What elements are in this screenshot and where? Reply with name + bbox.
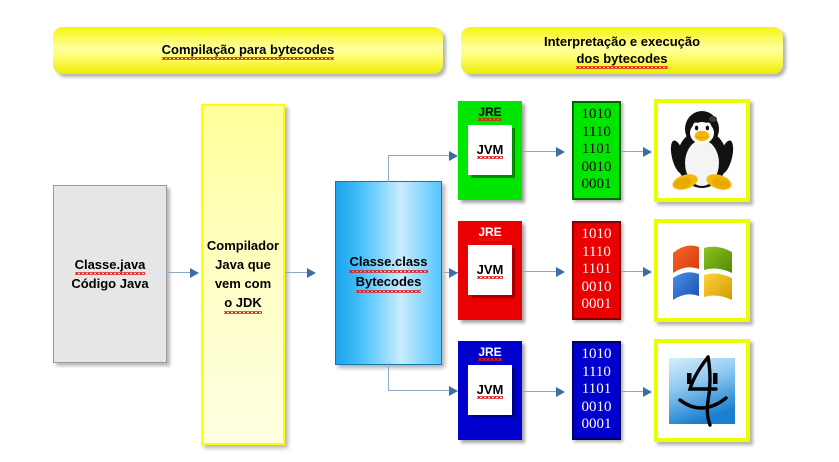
byte-line: 0010	[574, 399, 619, 417]
bytecode-stream-macos: 1010 1110 1101 0010 0001	[572, 341, 621, 440]
compiler-box: Compilador Java que vem com o JDK	[201, 104, 285, 445]
header-execution-line2: dos bytecodes	[576, 50, 667, 69]
tux-penguin-icon	[663, 109, 741, 193]
jre-label-linux: JRE	[478, 105, 501, 121]
jvm-label-windows: JVM	[477, 262, 504, 279]
os-tile-macos	[654, 339, 750, 442]
branch-line-down-vertical	[388, 363, 389, 391]
branch-line-up-horizontal	[388, 155, 451, 156]
byte-line: 1101	[574, 261, 619, 279]
byte-line: 1101	[574, 381, 619, 399]
windows-flag-icon	[664, 233, 740, 309]
arrowhead-to-mac-jre	[449, 386, 458, 396]
bytecode-file-desc: Bytecodes	[356, 273, 422, 293]
branch-line-up-vertical	[388, 155, 389, 182]
diagram-canvas: Compilação e execução Compilação para by…	[0, 0, 839, 462]
arrowhead-to-linux-jre	[449, 151, 458, 161]
jre-label-windows: JRE	[478, 225, 501, 241]
arrowhead-source-to-compiler	[190, 268, 199, 278]
connector-macos-jvm-to-bytes	[522, 391, 556, 392]
byte-line: 0001	[574, 416, 619, 434]
source-file-desc: Código Java	[71, 275, 148, 292]
arrowhead-linux-bytes-to-os	[643, 147, 652, 157]
jvm-box-windows: JVM	[468, 245, 512, 295]
byte-line: 0010	[574, 279, 619, 297]
source-file-name: Classe.java	[75, 256, 146, 275]
byte-line: 1010	[574, 346, 619, 364]
jvm-label-macos: JVM	[477, 382, 504, 399]
connector-source-to-compiler	[168, 272, 190, 273]
jre-label-macos: JRE	[478, 345, 501, 361]
connector-macos-bytes-to-os	[621, 391, 645, 392]
compiler-line4: o JDK	[224, 293, 262, 314]
header-execution-phase: Interpretação e execução dos bytecodes	[461, 27, 783, 74]
bytecode-stream-linux: 1010 1110 1101 0010 0001	[572, 101, 621, 200]
jvm-label-linux: JVM	[477, 142, 504, 159]
compiler-line2: Java que	[215, 255, 271, 274]
arrowhead-to-windows-jre	[449, 268, 458, 278]
bytecode-stream-windows: 1010 1110 1101 0010 0001	[572, 221, 621, 320]
connector-linux-jvm-to-bytes	[522, 151, 556, 152]
byte-line: 0001	[574, 176, 619, 194]
branch-line-down-horizontal	[388, 390, 451, 391]
jvm-box-linux: JVM	[468, 125, 512, 175]
arrowhead-windows-bytes-to-os	[643, 267, 652, 277]
connector-compiler-to-bytecode	[285, 272, 307, 273]
connector-linux-bytes-to-os	[621, 151, 645, 152]
byte-line: 0010	[574, 159, 619, 177]
byte-line: 1110	[574, 244, 619, 262]
byte-line: 1101	[574, 141, 619, 159]
header-compilation-phase: Compilação para bytecodes	[53, 27, 443, 74]
jre-box-macos: JRE JVM	[458, 341, 522, 440]
byte-line: 1110	[574, 364, 619, 382]
arrowhead-macos-bytes-to-os	[643, 387, 652, 397]
arrowhead-linux-jvm-to-bytes	[556, 147, 565, 157]
jre-box-windows: JRE JVM	[458, 221, 522, 320]
byte-line: 1110	[574, 124, 619, 142]
connector-windows-jvm-to-bytes	[522, 271, 556, 272]
header-compilation-label: Compilação para bytecodes	[162, 41, 335, 60]
arrowhead-compiler-to-bytecode	[307, 268, 316, 278]
jvm-box-macos: JVM	[468, 365, 512, 415]
bytecode-file-box: Classe.class Bytecodes	[335, 181, 442, 365]
connector-windows-bytes-to-os	[621, 271, 645, 272]
mac-finder-face-icon	[664, 353, 740, 429]
arrowhead-windows-jvm-to-bytes	[556, 267, 565, 277]
compiler-line1: Compilador	[207, 236, 279, 255]
compiler-line3: vem com	[215, 274, 271, 293]
bytecode-file-name: Classe.class	[349, 253, 427, 273]
byte-line: 1010	[574, 106, 619, 124]
byte-line: 1010	[574, 226, 619, 244]
jre-box-linux: JRE JVM	[458, 101, 522, 200]
source-file-box: Classe.java Código Java	[53, 185, 167, 363]
arrowhead-macos-jvm-to-bytes	[556, 387, 565, 397]
byte-line: 0001	[574, 296, 619, 314]
os-tile-windows	[654, 219, 750, 322]
header-execution-line1: Interpretação e execução	[544, 33, 700, 50]
os-tile-linux	[654, 99, 750, 202]
